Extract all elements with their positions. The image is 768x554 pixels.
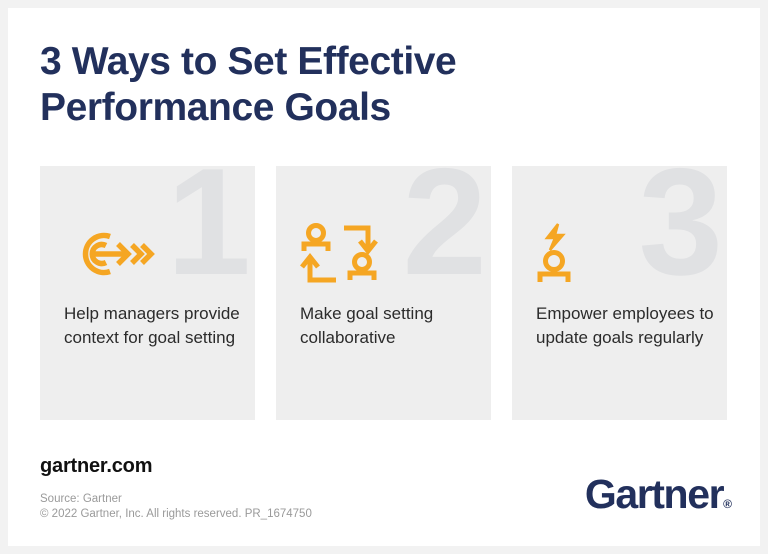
card-1-number: 1 [166,166,247,298]
empowered-person-lightning-icon [536,223,620,285]
target-arrow-icon [64,223,148,285]
collaboration-people-arrows-icon [300,223,384,285]
page-title-line-1: 3 Ways to Set Effective [40,39,640,85]
page-title: 3 Ways to Set Effective Performance Goal… [40,39,640,131]
gartner-logo-text: Gartner [585,471,723,517]
registered-trademark-icon: ® [723,497,732,511]
page-title-line-2: Performance Goals [40,85,640,131]
card-3-text: Empower employees to update goals regula… [536,302,716,350]
card-1: 1 Help managers provide context for goal [40,166,255,420]
card-2-number: 2 [402,166,483,298]
site-url[interactable]: gartner.com [40,455,152,478]
cards-row: 1 Help managers provide context for goal [40,166,728,420]
legal-block: Source: Gartner © 2022 Gartner, Inc. All… [40,492,312,522]
copyright-line: © 2022 Gartner, Inc. All rights reserved… [40,507,312,522]
card-2-text: Make goal setting collaborative [300,302,480,350]
card-2: 2 Make goal setting collaborat [276,166,491,420]
infographic-canvas: 3 Ways to Set Effective Performance Goal… [8,8,760,546]
source-line: Source: Gartner [40,492,312,507]
gartner-logo: Gartner® [585,474,732,515]
card-1-text: Help managers provide context for goal s… [64,302,244,350]
card-3: 3 Empower employees to update goals regu… [512,166,727,420]
card-3-number: 3 [638,166,719,298]
